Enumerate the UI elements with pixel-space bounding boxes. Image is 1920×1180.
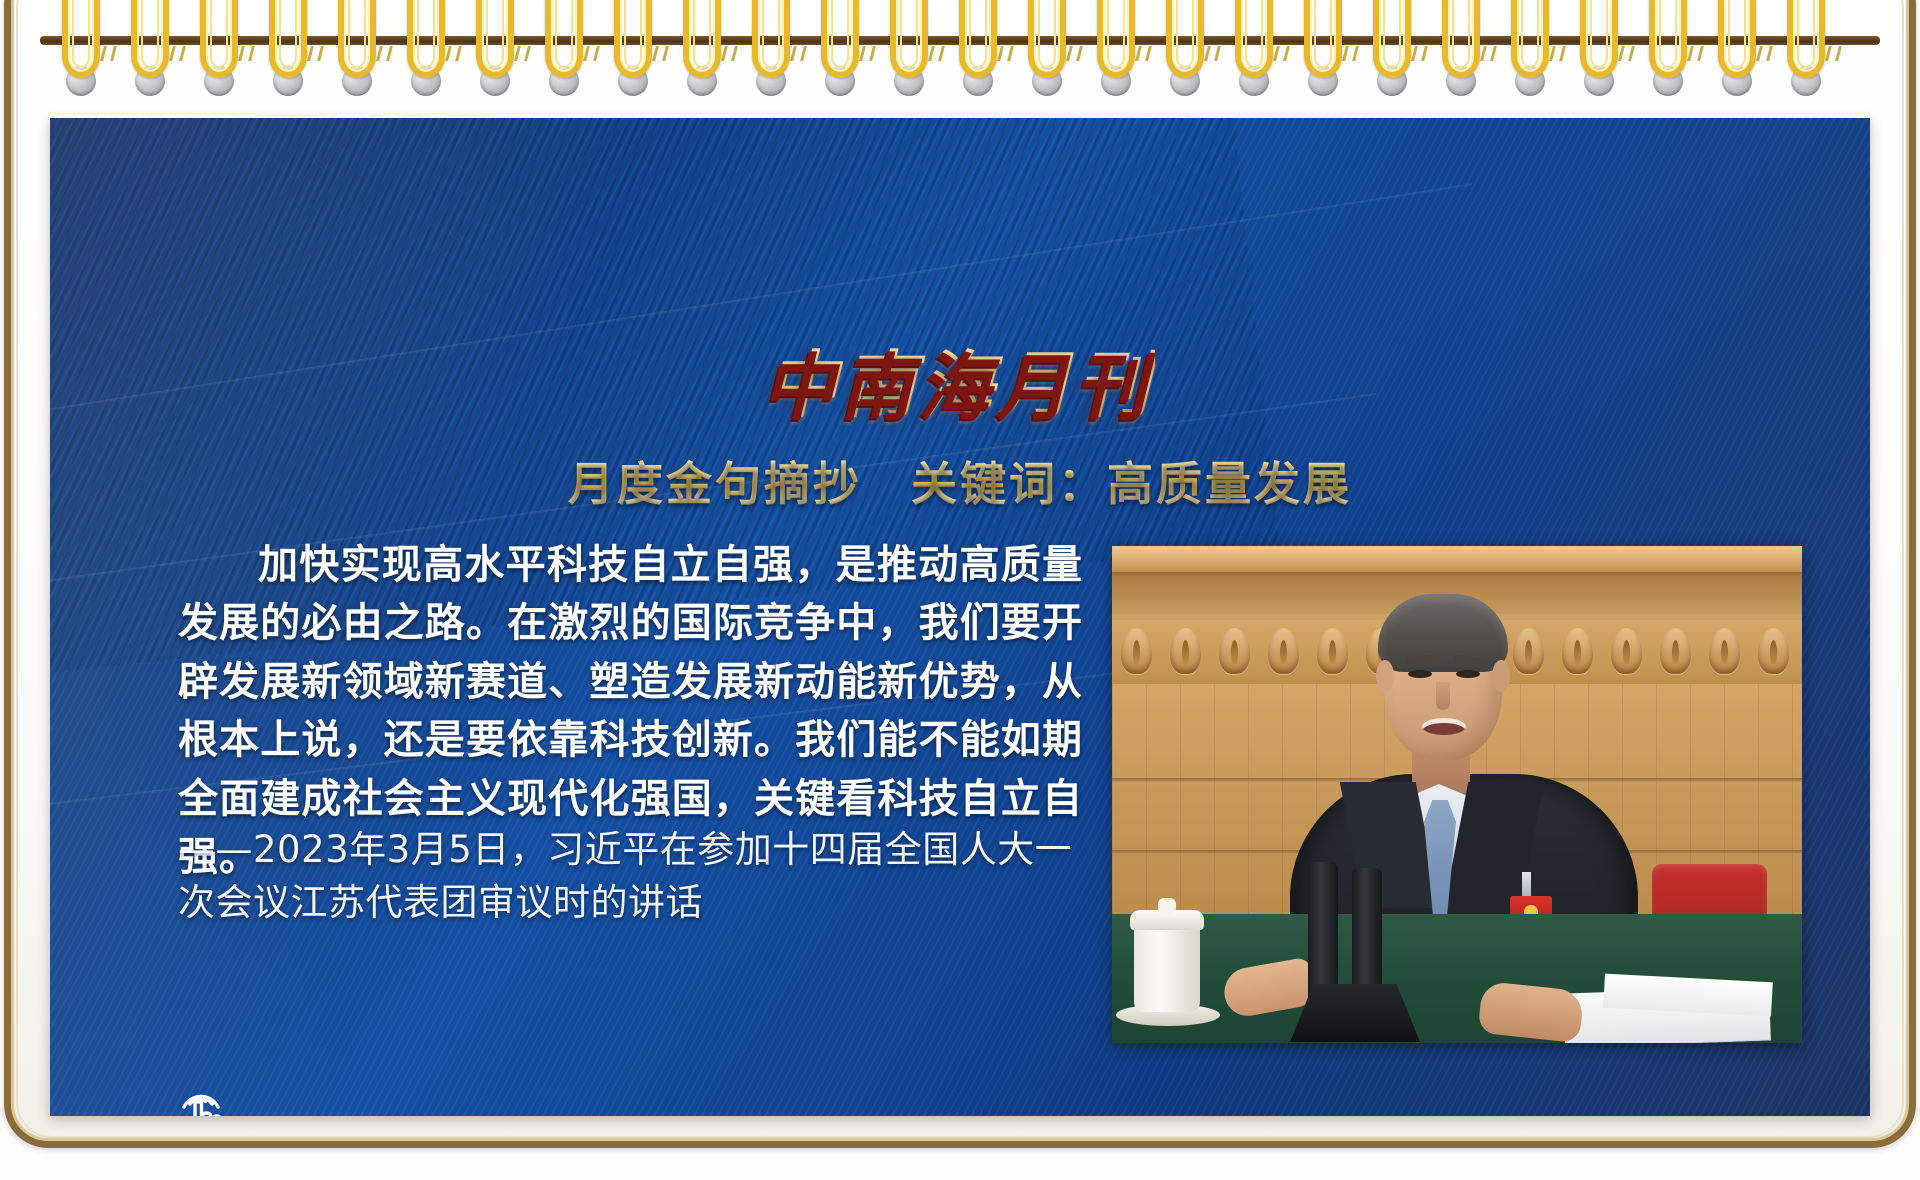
binding-tick bbox=[721, 46, 728, 61]
binding-wire bbox=[1649, 0, 1687, 78]
slide-panel: 中南海月刊 月度金句摘抄 关键词：高质量发展 加快实现高水平科技自立自强，是推动… bbox=[50, 118, 1870, 1116]
binding-ring bbox=[338, 0, 376, 80]
photo-tea-cup bbox=[1134, 924, 1200, 1012]
binding-wire bbox=[200, 0, 238, 78]
photo-wall-rail bbox=[1112, 546, 1802, 572]
quote-attribution: ——2023年3月5日，习近平在参加十四届全国人大一次会议江苏代表团审议时的讲话 bbox=[178, 824, 1078, 929]
binding-tick bbox=[1687, 46, 1694, 61]
binding-ring bbox=[1235, 0, 1273, 80]
photo-carve-motif bbox=[1602, 620, 1651, 684]
photo-carve-motif bbox=[1112, 620, 1161, 684]
binding-wire bbox=[1166, 0, 1204, 78]
photo-badge-clip bbox=[1522, 872, 1531, 898]
binding-tick bbox=[376, 46, 383, 61]
binding-wire bbox=[269, 0, 307, 78]
binding-tick bbox=[100, 46, 107, 61]
notebook-page: 中南海月刊 月度金句摘抄 关键词：高质量发展 加快实现高水平科技自立自强，是推动… bbox=[0, 0, 1920, 1180]
binding-tick bbox=[1135, 46, 1142, 61]
binding-wire bbox=[1028, 0, 1066, 78]
binding-tick bbox=[928, 46, 935, 61]
binding-tick bbox=[307, 46, 314, 61]
binding-tick bbox=[110, 46, 117, 61]
binding-wire bbox=[476, 0, 514, 78]
binding-tick bbox=[1628, 46, 1635, 61]
binding-ring bbox=[476, 0, 514, 80]
binding-wire bbox=[1442, 0, 1480, 78]
binding-wire bbox=[338, 0, 376, 78]
binding-ring bbox=[1166, 0, 1204, 80]
binding-wire bbox=[131, 0, 169, 78]
binding-tick bbox=[1697, 46, 1704, 61]
binding-tick bbox=[1273, 46, 1280, 61]
binding-wire bbox=[821, 0, 859, 78]
binding-wire bbox=[1373, 0, 1411, 78]
publication-title: 中南海月刊 bbox=[765, 326, 1155, 431]
binding-ring bbox=[821, 0, 859, 80]
binding-ring bbox=[752, 0, 790, 80]
binding-tick bbox=[1352, 46, 1359, 61]
binding-wire bbox=[1235, 0, 1273, 78]
spiral-binding-icon bbox=[0, 0, 1920, 120]
binding-wire bbox=[890, 0, 928, 78]
binding-tick bbox=[1007, 46, 1014, 61]
binding-ring bbox=[1028, 0, 1066, 80]
binding-tick bbox=[790, 46, 797, 61]
binding-ring bbox=[1787, 0, 1825, 80]
photo-subject-mouth bbox=[1422, 718, 1466, 735]
binding-ring bbox=[1373, 0, 1411, 80]
photo-carve-motif bbox=[1210, 620, 1259, 684]
photo-carve-motif bbox=[1749, 620, 1798, 684]
binding-tick bbox=[1283, 46, 1290, 61]
binding-tick bbox=[1549, 46, 1556, 61]
binding-ring bbox=[1097, 0, 1135, 80]
binding-tick bbox=[1490, 46, 1497, 61]
binding-tick bbox=[1618, 46, 1625, 61]
binding-tick bbox=[524, 46, 531, 61]
binding-wire bbox=[407, 0, 445, 78]
subtitle-wrap: 月度金句摘抄 关键词：高质量发展 bbox=[50, 448, 1870, 514]
publication-title-wrap: 中南海月刊 bbox=[50, 326, 1870, 431]
binding-tick bbox=[1421, 46, 1428, 61]
binding-tick bbox=[1825, 46, 1832, 61]
binding-tick bbox=[1480, 46, 1487, 61]
binding-wire bbox=[62, 0, 100, 78]
binding-wire bbox=[1304, 0, 1342, 78]
binding-wire bbox=[959, 0, 997, 78]
binding-tick bbox=[652, 46, 659, 61]
binding-tick bbox=[859, 46, 866, 61]
binding-ring bbox=[269, 0, 307, 80]
photo-tea-cup-knob bbox=[1158, 898, 1176, 914]
binding-ring bbox=[1511, 0, 1549, 80]
binding-wire bbox=[683, 0, 721, 78]
tap-hand-icon[interactable] bbox=[162, 1073, 248, 1116]
binding-wire bbox=[1580, 0, 1618, 78]
binding-tick bbox=[997, 46, 1004, 61]
binding-ring bbox=[62, 0, 100, 80]
binding-wire bbox=[1787, 0, 1825, 78]
photo-subject-eye-left bbox=[1408, 670, 1432, 678]
binding-tick bbox=[593, 46, 600, 61]
binding-ring bbox=[959, 0, 997, 80]
binding-tick bbox=[386, 46, 393, 61]
binding-ring bbox=[131, 0, 169, 80]
photo-carve-motif bbox=[1798, 620, 1802, 684]
binding-ring bbox=[1304, 0, 1342, 80]
binding-ring bbox=[200, 0, 238, 80]
binding-tick bbox=[445, 46, 452, 61]
binding-tick bbox=[179, 46, 186, 61]
photo-subject-nose bbox=[1436, 682, 1450, 710]
binding-tick bbox=[238, 46, 245, 61]
binding-tick bbox=[1756, 46, 1763, 61]
binding-ring bbox=[407, 0, 445, 80]
binding-tick bbox=[938, 46, 945, 61]
binding-tick bbox=[169, 46, 176, 61]
binding-tick bbox=[1342, 46, 1349, 61]
photo-carve-motif bbox=[1700, 620, 1749, 684]
binding-tick bbox=[731, 46, 738, 61]
binding-wire bbox=[1718, 0, 1756, 78]
binding-tick bbox=[514, 46, 521, 61]
subtitle-text: 月度金句摘抄 关键词：高质量发展 bbox=[568, 448, 1352, 514]
binding-tick bbox=[1766, 46, 1773, 61]
photo-subject-eye-right bbox=[1456, 670, 1480, 678]
binding-ring bbox=[1580, 0, 1618, 80]
photo-carve-motif bbox=[1504, 620, 1553, 684]
binding-ring bbox=[890, 0, 928, 80]
binding-ring bbox=[614, 0, 652, 80]
binding-tick bbox=[1066, 46, 1073, 61]
photo-subject-hair bbox=[1378, 594, 1508, 672]
binding-tick bbox=[869, 46, 876, 61]
binding-wire bbox=[614, 0, 652, 78]
binding-wire bbox=[752, 0, 790, 78]
binding-ring bbox=[683, 0, 721, 80]
binding-tick bbox=[1411, 46, 1418, 61]
photo-carve-motif bbox=[1553, 620, 1602, 684]
binding-tick bbox=[1145, 46, 1152, 61]
binding-tick bbox=[800, 46, 807, 61]
binding-tick bbox=[662, 46, 669, 61]
binding-ring bbox=[1649, 0, 1687, 80]
binding-ring bbox=[1718, 0, 1756, 80]
binding-tick bbox=[1204, 46, 1211, 61]
binding-wire bbox=[1511, 0, 1549, 78]
photo-carve-motif bbox=[1259, 620, 1308, 684]
photo-carve-motif bbox=[1651, 620, 1700, 684]
photo-subject-ear-left bbox=[1376, 660, 1394, 692]
photo-subject-ear-right bbox=[1492, 660, 1510, 692]
binding-wire bbox=[1097, 0, 1135, 78]
binding-tick bbox=[1076, 46, 1083, 61]
photo-carve-motif bbox=[1308, 620, 1357, 684]
binding-wire bbox=[545, 0, 583, 78]
binding-tick bbox=[1559, 46, 1566, 61]
binding-tick bbox=[455, 46, 462, 61]
binding-tick bbox=[317, 46, 324, 61]
binding-ring bbox=[545, 0, 583, 80]
binding-tick bbox=[248, 46, 255, 61]
photo-carve-motif bbox=[1161, 620, 1210, 684]
binding-tick bbox=[1214, 46, 1221, 61]
meeting-photo bbox=[1112, 546, 1802, 1043]
binding-tick bbox=[1835, 46, 1842, 61]
binding-tick bbox=[583, 46, 590, 61]
binding-ring bbox=[1442, 0, 1480, 80]
